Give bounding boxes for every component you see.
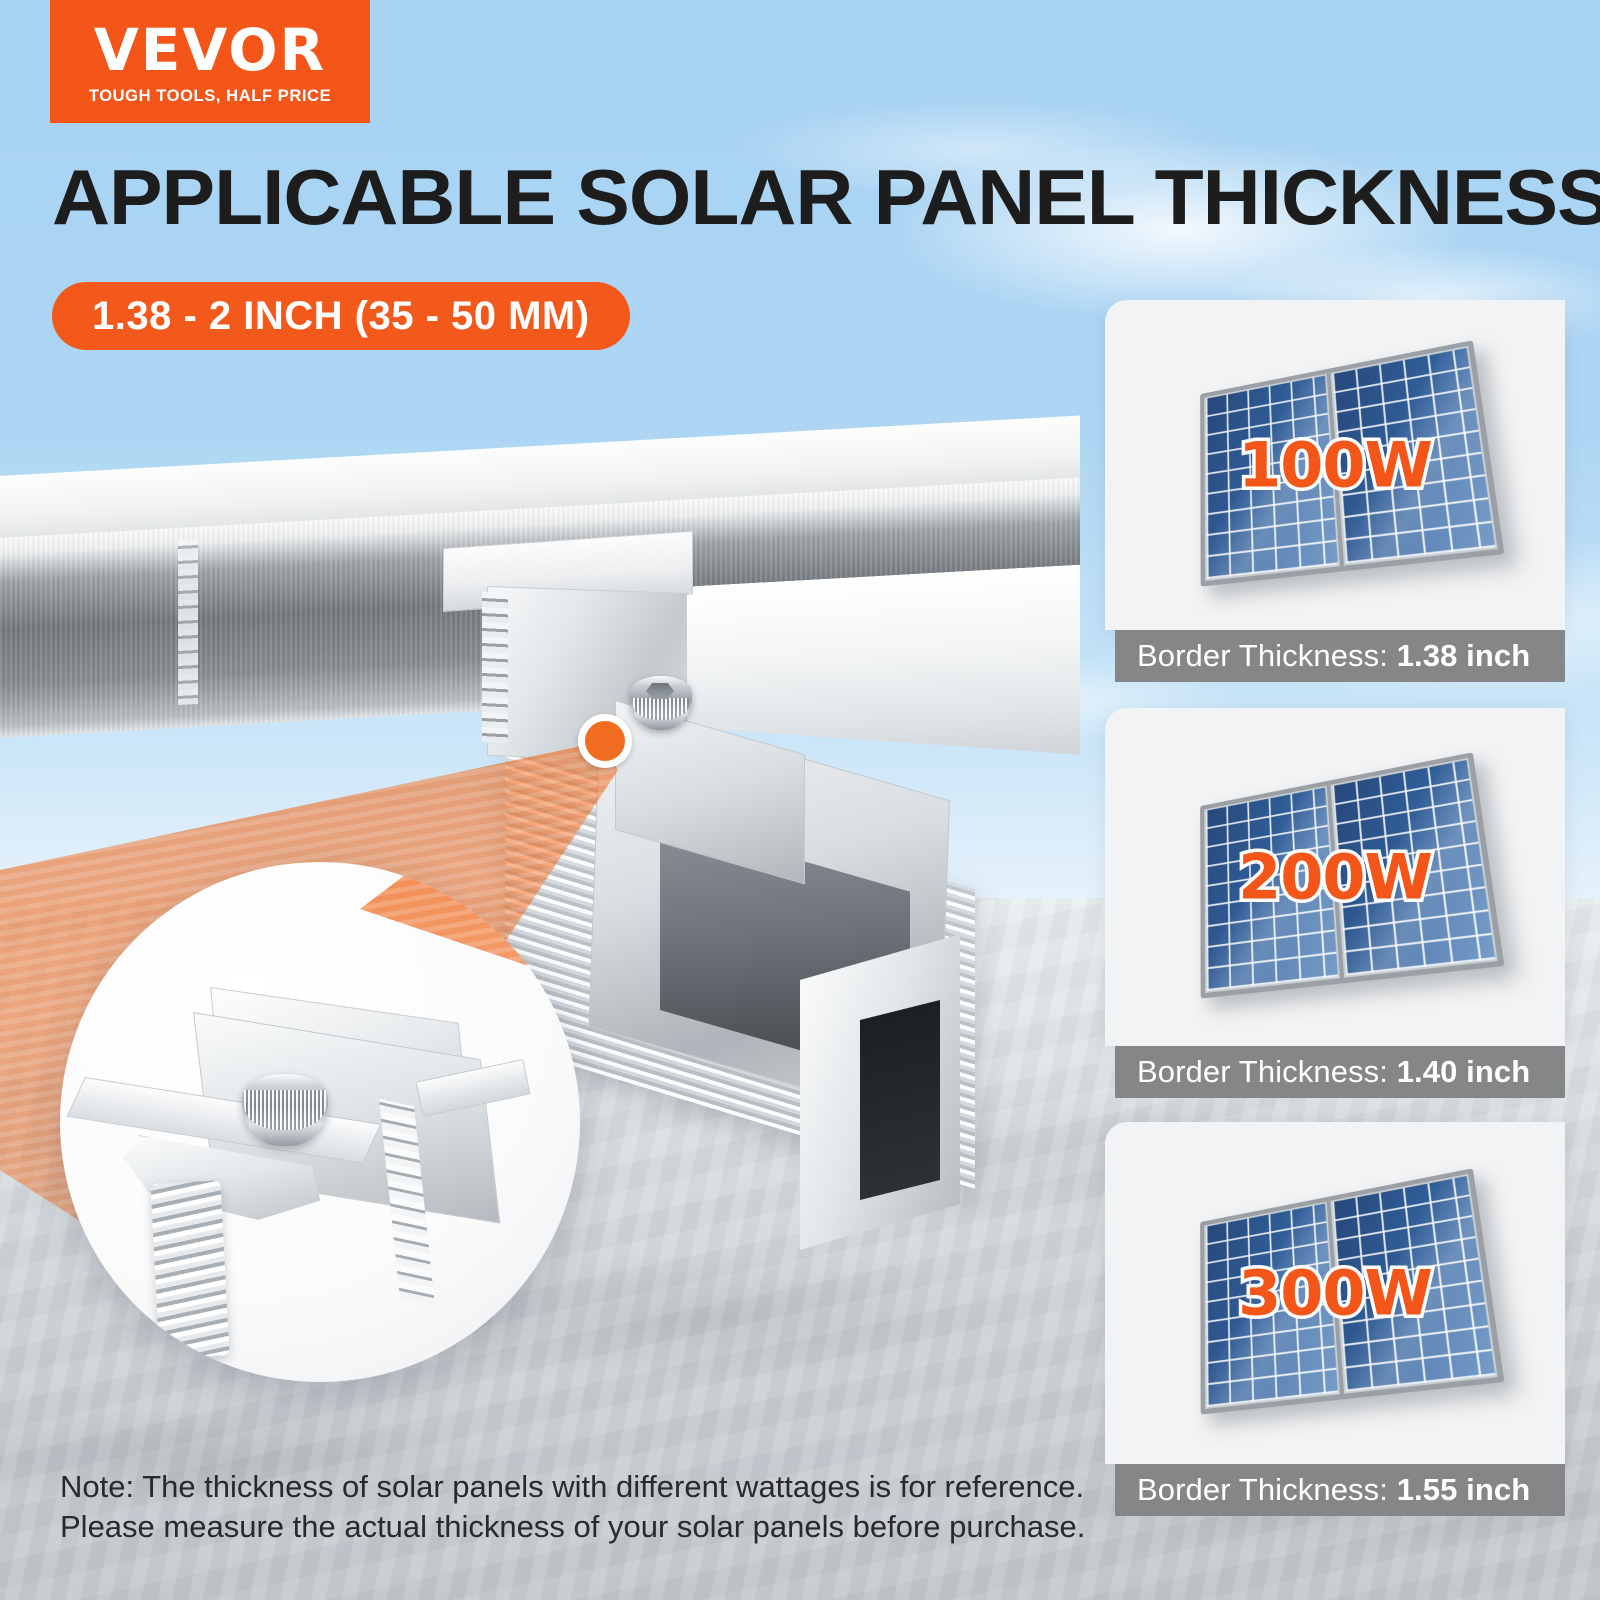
- caption-value: 1.38 inch: [1397, 638, 1531, 673]
- caption-label: Border Thickness:: [1137, 638, 1388, 673]
- panel-card-art: 300W: [1105, 1122, 1565, 1464]
- clamp-serrated-jaw: [482, 592, 508, 743]
- caption-value: 1.55 inch: [1397, 1472, 1531, 1507]
- caption-text: Border Thickness: 1.55 inch: [1137, 1472, 1530, 1508]
- highlight-dot-icon: [578, 714, 632, 768]
- panel-card-art: 200W: [1105, 708, 1565, 1046]
- infographic-stage: VEVOR TOUGH TOOLS, HALF PRICE APPLICABLE…: [0, 0, 1600, 1600]
- brand-name: VEVOR: [94, 23, 326, 78]
- footnote-line-1: Note: The thickness of solar panels with…: [60, 1467, 1020, 1507]
- panel-card-100w: 100W: [1105, 300, 1565, 630]
- rail-serration-left: [178, 539, 198, 705]
- magnified-clamp-detail: [60, 862, 580, 1382]
- detail-threaded-screw-icon: [150, 1180, 229, 1358]
- panel-frame-shadow-cavity: [860, 1000, 940, 1200]
- caption-text: Border Thickness: 1.40 inch: [1137, 1054, 1530, 1090]
- panel-card-300w: 300W: [1105, 1122, 1565, 1464]
- footnote: Note: The thickness of solar panels with…: [60, 1467, 1020, 1546]
- panel-caption-100w: Border Thickness: 1.38 inch: [1115, 630, 1565, 682]
- caption-label: Border Thickness:: [1137, 1472, 1388, 1507]
- caption-value: 1.40 inch: [1397, 1054, 1531, 1089]
- caption-label: Border Thickness:: [1137, 1054, 1388, 1089]
- vevor-logo: VEVOR TOUGH TOOLS, HALF PRICE: [50, 0, 370, 123]
- caption-text: Border Thickness: 1.38 inch: [1137, 638, 1530, 674]
- thickness-range-badge: 1.38 - 2 INCH (35 - 50 MM): [52, 282, 630, 350]
- brand-tagline: TOUGH TOOLS, HALF PRICE: [89, 87, 331, 106]
- panel-caption-300w: Border Thickness: 1.55 inch: [1115, 1464, 1565, 1516]
- panel-card-art: 100W: [1105, 300, 1565, 630]
- page-title: APPLICABLE SOLAR PANEL THICKNESS: [52, 158, 1515, 236]
- wattage-label: 200W: [1238, 841, 1432, 914]
- wattage-label: 100W: [1238, 429, 1432, 502]
- panel-card-200w: 200W: [1105, 708, 1565, 1046]
- wattage-label: 300W: [1238, 1257, 1432, 1330]
- footnote-line-2: Please measure the actual thickness of y…: [60, 1507, 1020, 1547]
- panel-caption-200w: Border Thickness: 1.40 inch: [1115, 1046, 1565, 1098]
